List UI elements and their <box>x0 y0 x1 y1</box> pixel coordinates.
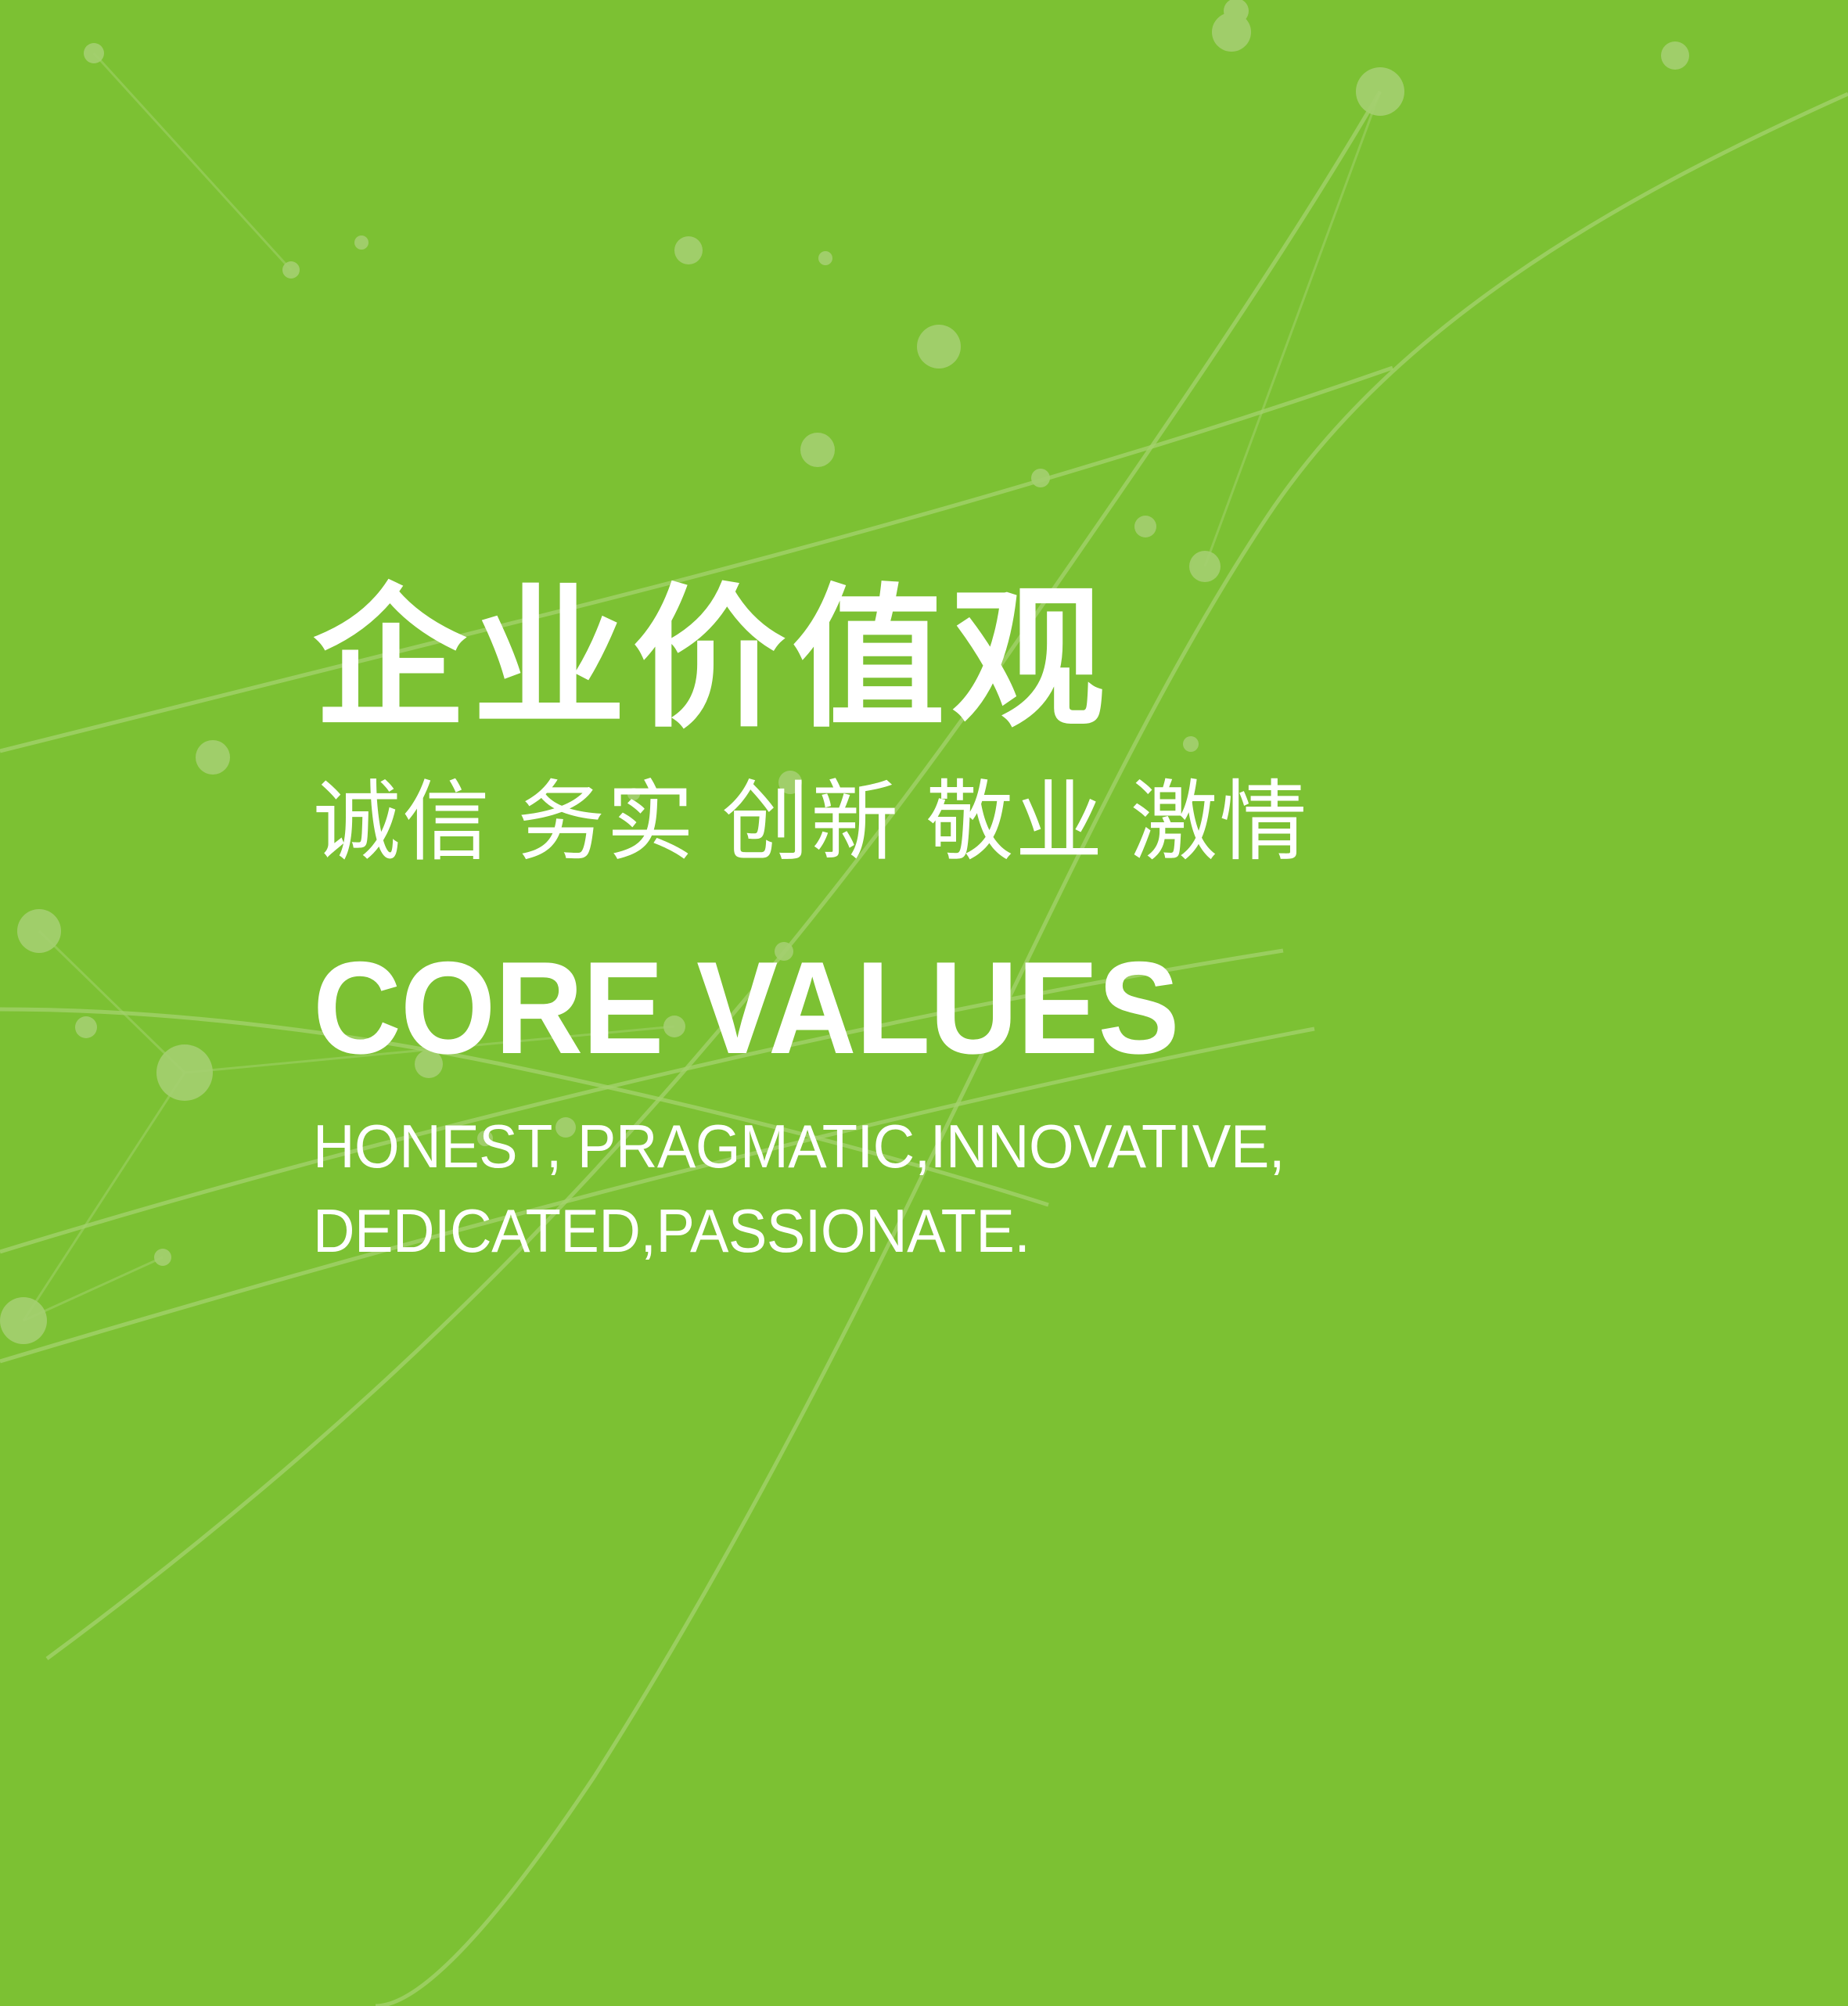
english-body-line-1: HONEST, PRAGMATIC,INNOVATIVE, <box>313 1105 1651 1189</box>
decoration-curve <box>39 931 185 1073</box>
decoration-node <box>282 261 300 279</box>
decoration-curve <box>94 53 291 270</box>
core-values-poster: 企业价值观 诚信 务实 创新 敬业 激情 CORE VALUES HONEST,… <box>0 0 1848 2006</box>
decoration-node <box>154 1249 171 1266</box>
english-body-line-2: DEDICATED,PASSIONATE. <box>313 1189 1651 1274</box>
decoration-node <box>196 740 230 775</box>
poster-content: 企业价值观 诚信 务实 创新 敬业 激情 CORE VALUES HONEST,… <box>313 579 1721 1273</box>
decoration-node <box>1661 41 1689 70</box>
decoration-node <box>0 1297 47 1344</box>
chinese-subtitle: 诚信 务实 创新 敬业 激情 <box>313 740 1721 875</box>
decoration-curve <box>23 1257 163 1321</box>
decoration-node <box>84 43 104 63</box>
decoration-node <box>354 235 369 250</box>
decoration-node <box>1224 0 1249 23</box>
english-body: HONEST, PRAGMATIC,INNOVATIVE, DEDICATED,… <box>313 1073 1651 1273</box>
decoration-node <box>1356 67 1404 116</box>
decoration-curve <box>23 1073 185 1321</box>
chinese-title: 企业价值观 <box>313 579 1721 740</box>
decoration-node <box>800 433 835 467</box>
decoration-node <box>818 251 832 265</box>
decoration-node <box>1134 516 1156 537</box>
decoration-node <box>75 1016 97 1038</box>
english-title: CORE VALUES <box>313 875 1623 1073</box>
decoration-node <box>1189 551 1221 582</box>
decoration-node <box>156 1044 213 1101</box>
decoration-curve <box>1205 92 1380 566</box>
decoration-node <box>674 236 703 264</box>
decoration-node <box>17 909 61 953</box>
decoration-node <box>1212 13 1251 52</box>
decoration-node <box>1031 469 1050 487</box>
decoration-node <box>917 325 961 368</box>
